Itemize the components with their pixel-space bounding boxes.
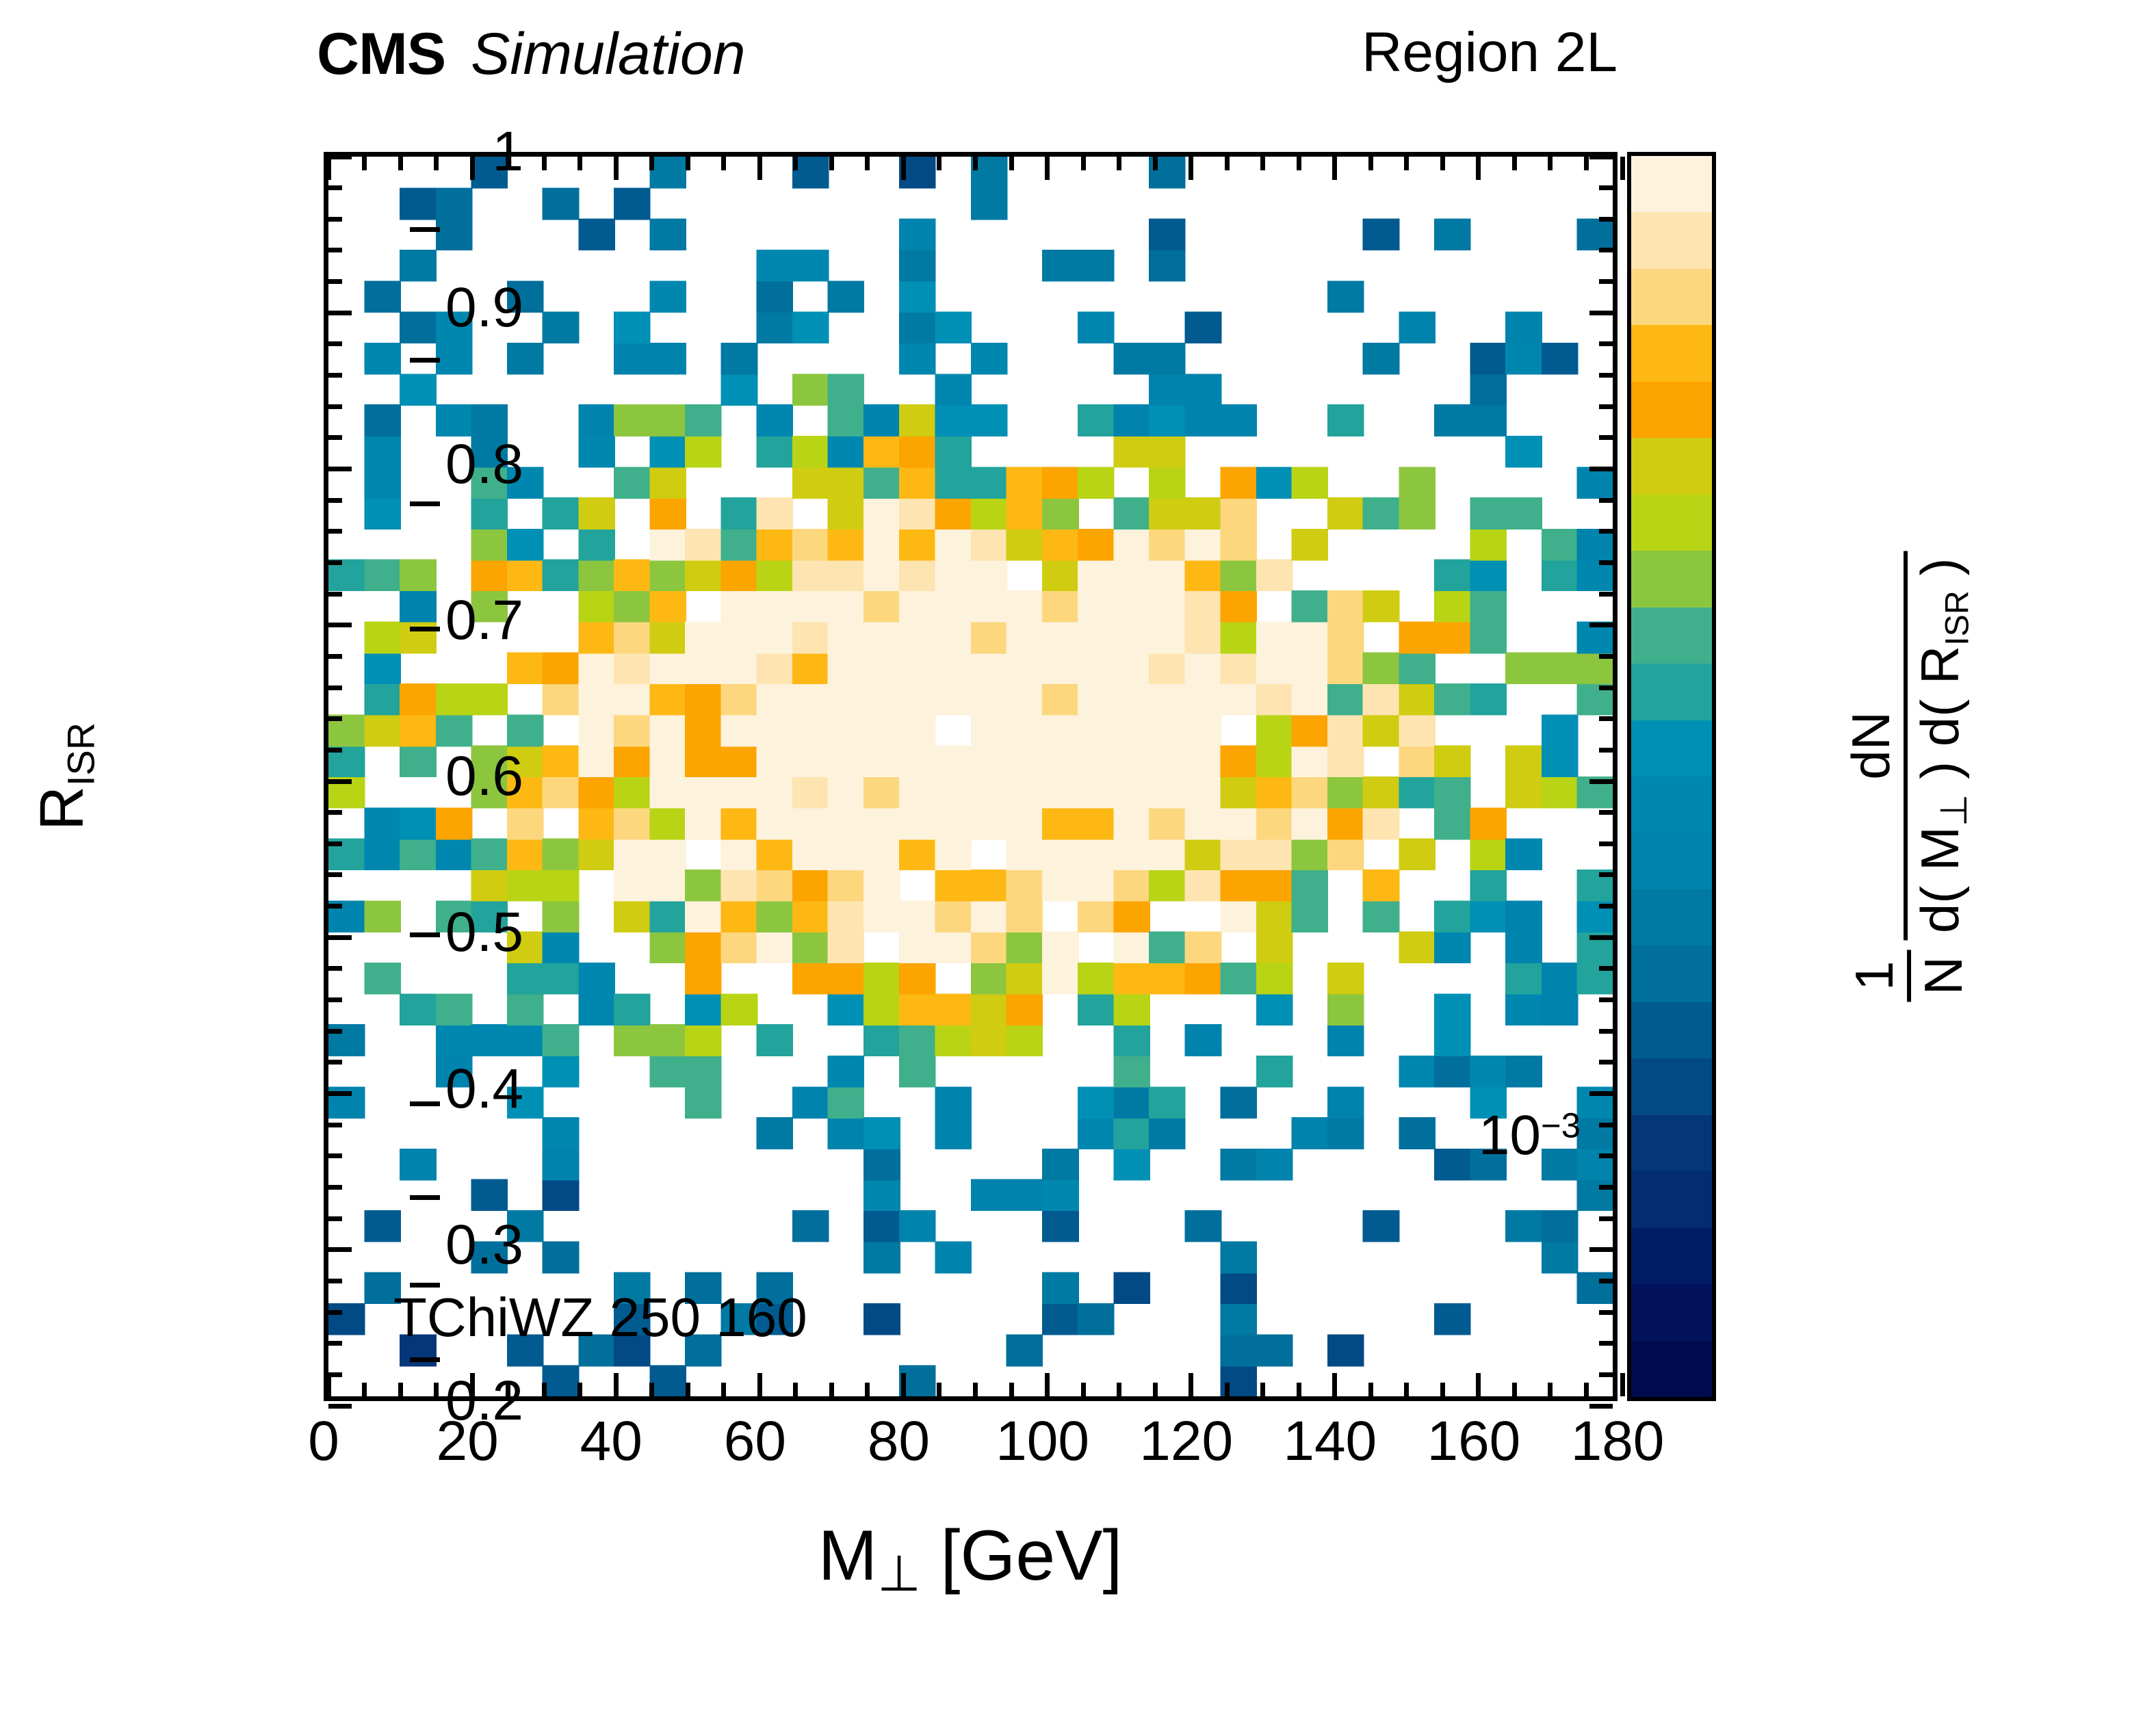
y-minor-right-2-3	[1599, 997, 1613, 1002]
y-minor-right-5-3	[1599, 529, 1613, 534]
y-tick-label-3: 0.5	[445, 900, 523, 965]
z-den-b-sub: ISR	[1939, 590, 1976, 646]
x-tick-label-4: 80	[868, 1409, 930, 1474]
z-prefix-numerator: 1	[1847, 954, 1902, 997]
x-minor-top-0-2	[398, 157, 403, 170]
y-minor-left-3-1	[328, 904, 342, 909]
colorbar-swatch-21	[1631, 1341, 1712, 1397]
x-minor-top-3-3	[865, 157, 870, 170]
x-axis-title-main: M	[818, 1516, 878, 1595]
y-minor-left-5-3	[328, 529, 342, 534]
x-minor-bottom-1-2	[542, 1383, 547, 1396]
y-minor-left-6-2	[328, 404, 342, 409]
x-minor-bottom-6-1	[1225, 1383, 1230, 1396]
y-minor-left-7-3	[328, 217, 342, 222]
y-tick-right-6	[1589, 467, 1613, 471]
x-minor-bottom-0-1	[362, 1383, 367, 1396]
region-label: Region 2L	[1362, 21, 1618, 85]
x-minor-top-5-2	[1117, 157, 1121, 170]
y-minor-left-5-1	[328, 592, 342, 597]
y-tick-right-7	[1589, 311, 1613, 315]
x-tick-bottom-4	[901, 1373, 906, 1396]
colorbar-tick-2	[410, 501, 440, 506]
x-tick-label-0: 0	[308, 1409, 339, 1474]
y-tick-right-2	[1589, 1091, 1613, 1096]
colorbar-tick-4	[410, 932, 440, 937]
x-minor-top-0-1	[362, 157, 367, 170]
y-tick-left-2	[328, 1091, 352, 1096]
y-minor-left-2-3	[328, 997, 342, 1002]
y-minor-left-6-3	[328, 373, 342, 378]
y-minor-left-4-1	[328, 748, 342, 753]
y-minor-right-7-2	[1599, 248, 1613, 252]
y-tick-left-7	[328, 311, 352, 315]
y-axis-title-main: R	[28, 786, 96, 831]
x-minor-bottom-1-3	[577, 1383, 582, 1396]
y-minor-right-1-2	[1599, 1185, 1613, 1190]
x-minor-bottom-2-1	[649, 1383, 654, 1396]
x-tick-bottom-3	[757, 1373, 762, 1396]
x-minor-top-2-3	[721, 157, 726, 170]
x-minor-bottom-7-2	[1404, 1383, 1409, 1396]
colorbar-swatch-13	[1631, 889, 1712, 945]
colorbar-swatch-16	[1631, 1058, 1712, 1114]
colorbar-tick-exponent: −3	[1541, 1106, 1581, 1145]
x-tick-label-2: 40	[580, 1409, 642, 1474]
z-den-part-a: d( M	[1910, 826, 1970, 933]
y-axis-title-sub: ISR	[59, 722, 102, 786]
y-minor-right-5-1	[1599, 592, 1613, 597]
x-tick-label-5: 100	[996, 1409, 1089, 1474]
y-tick-label-8: 1	[492, 120, 523, 184]
y-minor-left-5-4	[328, 498, 342, 503]
z-axis-prefix-fraction: 1 N	[1847, 950, 1971, 1002]
y-tick-left-6	[328, 467, 352, 471]
x-tick-label-1: 20	[437, 1409, 499, 1474]
z-prefix-denominator: N	[1916, 950, 1971, 1002]
y-minor-left-4-3	[328, 685, 342, 690]
z-axis-main-fraction: dN d( M⊥ ) d( RISR )	[1843, 551, 1975, 941]
x-minor-bottom-3-2	[829, 1383, 834, 1396]
x-minor-top-0-3	[434, 157, 439, 170]
x-tick-bottom-5	[1045, 1373, 1050, 1396]
y-minor-right-6-2	[1599, 404, 1613, 409]
colorbar-tick-1	[410, 358, 440, 363]
y-minor-right-6-3	[1599, 373, 1613, 378]
x-minor-top-3-2	[829, 157, 834, 170]
x-minor-top-1-2	[542, 157, 547, 170]
colorbar-swatch-12	[1631, 833, 1712, 889]
z-den-close: )	[1910, 558, 1970, 591]
x-minor-top-7-2	[1404, 157, 1409, 170]
y-minor-left-3-4	[328, 810, 342, 815]
colorbar-swatch-20	[1631, 1284, 1712, 1340]
x-minor-bottom-6-2	[1260, 1383, 1265, 1396]
z-prefix-fraction-bar	[1907, 950, 1911, 1002]
y-minor-right-3-2	[1599, 872, 1613, 877]
x-minor-top-4-1	[937, 157, 941, 170]
colorbar-tick-base: 10	[1479, 1104, 1541, 1166]
x-minor-bottom-5-1	[1081, 1383, 1086, 1396]
y-tick-left-1	[328, 1247, 352, 1252]
y-tick-left-4	[328, 779, 352, 784]
y-minor-left-2-4	[328, 966, 342, 971]
x-tick-label-9: 180	[1571, 1409, 1665, 1474]
x-tick-top-9	[1620, 157, 1625, 180]
colorbar-swatch-6	[1631, 495, 1712, 551]
y-tick-left-0	[328, 1404, 352, 1409]
colorbar-tick-3	[410, 627, 440, 631]
colorbar-swatch-10	[1631, 720, 1712, 776]
y-tick-right-3	[1589, 935, 1613, 940]
x-minor-bottom-4-1	[937, 1383, 941, 1396]
x-minor-top-2-2	[686, 157, 690, 170]
y-minor-right-6-4	[1599, 341, 1613, 346]
colorbar-tick-5	[410, 1101, 440, 1106]
y-minor-right-3-3	[1599, 841, 1613, 846]
simulation-label: Simulation	[471, 21, 746, 88]
x-tick-top-0	[326, 157, 331, 180]
y-minor-right-2-4	[1599, 966, 1613, 971]
y-tick-right-4	[1589, 779, 1613, 784]
x-minor-bottom-8-1	[1512, 1383, 1517, 1396]
z-den-a-sub: ⊥	[1933, 794, 1975, 827]
y-minor-right-2-1	[1599, 1060, 1613, 1065]
y-tick-left-5	[328, 623, 352, 627]
x-minor-top-5-1	[1081, 157, 1086, 170]
colorbar-swatch-15	[1631, 1002, 1712, 1058]
colorbar-swatch-11	[1631, 776, 1712, 833]
colorbar-swatch-19	[1631, 1228, 1712, 1284]
x-minor-top-6-2	[1260, 157, 1265, 170]
plot-header: CMS Simulation Region 2L	[324, 21, 1618, 86]
colorbar-swatch-18	[1631, 1171, 1712, 1227]
x-minor-bottom-5-2	[1117, 1383, 1121, 1396]
x-tick-top-4	[901, 157, 906, 180]
y-tick-right-1	[1589, 1247, 1613, 1252]
colorbar-swatch-17	[1631, 1115, 1712, 1171]
colorbar-swatch-9	[1631, 664, 1712, 720]
y-minor-right-4-3	[1599, 685, 1613, 690]
colorbar-swatch-2	[1631, 269, 1712, 325]
x-minor-top-8-1	[1512, 157, 1517, 170]
x-minor-top-3-1	[793, 157, 798, 170]
colorbar	[1627, 152, 1716, 1401]
colorbar-tick-7	[410, 1283, 440, 1288]
x-axis-title: M⊥ [GeV]	[818, 1515, 1123, 1603]
y-minor-right-7-1	[1599, 279, 1613, 284]
y-minor-right-4-1	[1599, 748, 1613, 753]
y-minor-left-6-4	[328, 341, 342, 346]
y-minor-left-0-2	[328, 1341, 342, 1346]
y-tick-left-8	[328, 155, 352, 159]
x-minor-top-4-3	[1009, 157, 1014, 170]
y-tick-label-4: 0.6	[445, 744, 523, 809]
x-tick-top-8	[1476, 157, 1481, 180]
colorbar-swatch-0	[1631, 156, 1712, 212]
x-tick-top-7	[1332, 157, 1337, 180]
y-minor-right-1-1	[1599, 1216, 1613, 1221]
x-minor-top-4-2	[973, 157, 978, 170]
x-tick-top-5	[1045, 157, 1050, 180]
y-minor-right-6-1	[1599, 435, 1613, 440]
y-minor-right-4-4	[1599, 654, 1613, 659]
z-denominator: d( M⊥ ) d( RISR )	[1912, 551, 1975, 941]
x-tick-label-3: 60	[724, 1409, 786, 1474]
z-axis-title: 1 N dN d( M⊥ ) d( RISR )	[1843, 551, 1975, 1002]
x-tick-label-7: 140	[1283, 1409, 1377, 1474]
x-minor-bottom-2-3	[721, 1383, 726, 1396]
x-minor-top-2-1	[649, 157, 654, 170]
x-tick-bottom-0	[326, 1373, 331, 1396]
x-tick-bottom-7	[1332, 1373, 1337, 1396]
z-numerator: dN	[1843, 705, 1899, 787]
y-minor-right-5-4	[1599, 498, 1613, 503]
y-minor-left-1-3	[328, 1153, 342, 1158]
y-minor-left-7-4	[328, 185, 342, 190]
x-tick-top-3	[757, 157, 762, 180]
y-minor-left-3-2	[328, 872, 342, 877]
x-minor-bottom-4-3	[1009, 1383, 1014, 1396]
y-axis-title: RISR	[27, 722, 103, 831]
x-minor-bottom-4-2	[973, 1383, 978, 1396]
x-tick-bottom-2	[614, 1373, 619, 1396]
y-tick-right-5	[1589, 623, 1613, 627]
y-tick-label-2: 0.4	[445, 1057, 523, 1121]
x-minor-top-7-1	[1368, 157, 1373, 170]
colorbar-swatch-4	[1631, 382, 1712, 438]
x-minor-bottom-6-3	[1297, 1383, 1301, 1396]
x-axis-title-unit: [GeV]	[941, 1516, 1123, 1595]
y-minor-left-2-2	[328, 1029, 342, 1034]
colorbar-swatch-3	[1631, 325, 1712, 381]
x-minor-top-5-3	[1153, 157, 1158, 170]
x-tick-top-1	[470, 157, 475, 180]
y-minor-left-1-4	[328, 1123, 342, 1127]
y-minor-right-3-1	[1599, 904, 1613, 909]
x-tick-bottom-6	[1189, 1373, 1193, 1396]
colorbar-swatch-1	[1631, 212, 1712, 268]
y-minor-left-5-2	[328, 560, 342, 565]
y-minor-right-4-2	[1599, 716, 1613, 721]
colorbar-tick-8	[410, 1357, 440, 1362]
y-minor-right-0-3	[1599, 1310, 1613, 1315]
cms-experiment-label: CMS	[317, 21, 445, 88]
colorbar-tick-0	[410, 227, 440, 232]
x-minor-top-8-2	[1548, 157, 1553, 170]
z-fraction-bar	[1904, 551, 1908, 941]
y-minor-left-0-3	[328, 1310, 342, 1315]
y-tick-right-8	[1589, 155, 1613, 159]
y-minor-left-4-4	[328, 654, 342, 659]
x-minor-bottom-3-1	[793, 1383, 798, 1396]
x-minor-bottom-0-3	[434, 1383, 439, 1396]
x-tick-label-6: 120	[1139, 1409, 1233, 1474]
x-minor-bottom-3-3	[865, 1383, 870, 1396]
colorbar-swatch-5	[1631, 438, 1712, 494]
y-tick-left-3	[328, 935, 352, 940]
y-minor-left-2-1	[328, 1060, 342, 1065]
x-minor-top-8-3	[1584, 157, 1589, 170]
y-tick-right-0	[1589, 1404, 1613, 1409]
colorbar-swatch-8	[1631, 608, 1712, 664]
y-tick-label-6: 0.8	[445, 432, 523, 497]
y-minor-right-1-4	[1599, 1123, 1613, 1127]
x-minor-top-6-1	[1225, 157, 1230, 170]
y-minor-right-2-2	[1599, 1029, 1613, 1034]
y-minor-right-5-2	[1599, 560, 1613, 565]
y-minor-left-0-4	[328, 1279, 342, 1283]
x-tick-top-6	[1189, 157, 1193, 180]
y-minor-left-1-1	[328, 1216, 342, 1221]
x-minor-top-1-3	[577, 157, 582, 170]
x-minor-bottom-0-2	[398, 1383, 403, 1396]
y-minor-right-3-4	[1599, 810, 1613, 815]
x-minor-bottom-7-3	[1440, 1383, 1445, 1396]
x-axis-title-sub: ⊥	[877, 1546, 920, 1602]
x-minor-bottom-8-2	[1548, 1383, 1553, 1396]
colorbar-tick-6	[410, 1195, 440, 1200]
y-minor-right-7-3	[1599, 217, 1613, 222]
colorbar-tick-label: 10−3	[1479, 1103, 1581, 1168]
dataset-annotation: TChiWZ 250 160	[393, 1286, 807, 1349]
x-minor-bottom-7-1	[1368, 1383, 1373, 1396]
y-minor-right-0-4	[1599, 1279, 1613, 1283]
x-tick-top-2	[614, 157, 619, 180]
x-tick-bottom-9	[1620, 1373, 1625, 1396]
y-tick-label-5: 0.7	[445, 588, 523, 653]
x-tick-label-8: 160	[1427, 1409, 1520, 1474]
y-minor-left-6-1	[328, 435, 342, 440]
x-minor-bottom-8-3	[1584, 1383, 1589, 1396]
y-tick-label-7: 0.9	[445, 276, 523, 340]
y-minor-left-1-2	[328, 1185, 342, 1190]
colorbar-swatch-7	[1631, 551, 1712, 607]
y-minor-left-3-3	[328, 841, 342, 846]
y-minor-left-4-2	[328, 716, 342, 721]
y-tick-label-1: 0.3	[445, 1213, 523, 1277]
z-den-part-b: ) d( R	[1910, 646, 1970, 794]
x-minor-bottom-2-2	[686, 1383, 690, 1396]
y-minor-right-7-4	[1599, 185, 1613, 190]
y-minor-right-0-1	[1599, 1372, 1613, 1377]
x-minor-bottom-5-3	[1153, 1383, 1158, 1396]
y-minor-right-0-2	[1599, 1341, 1613, 1346]
x-tick-bottom-8	[1476, 1373, 1481, 1396]
y-minor-right-1-3	[1599, 1153, 1613, 1158]
colorbar-swatch-14	[1631, 945, 1712, 1002]
y-minor-left-7-2	[328, 248, 342, 252]
x-minor-top-6-3	[1297, 157, 1301, 170]
x-minor-top-7-3	[1440, 157, 1445, 170]
y-minor-left-7-1	[328, 279, 342, 284]
